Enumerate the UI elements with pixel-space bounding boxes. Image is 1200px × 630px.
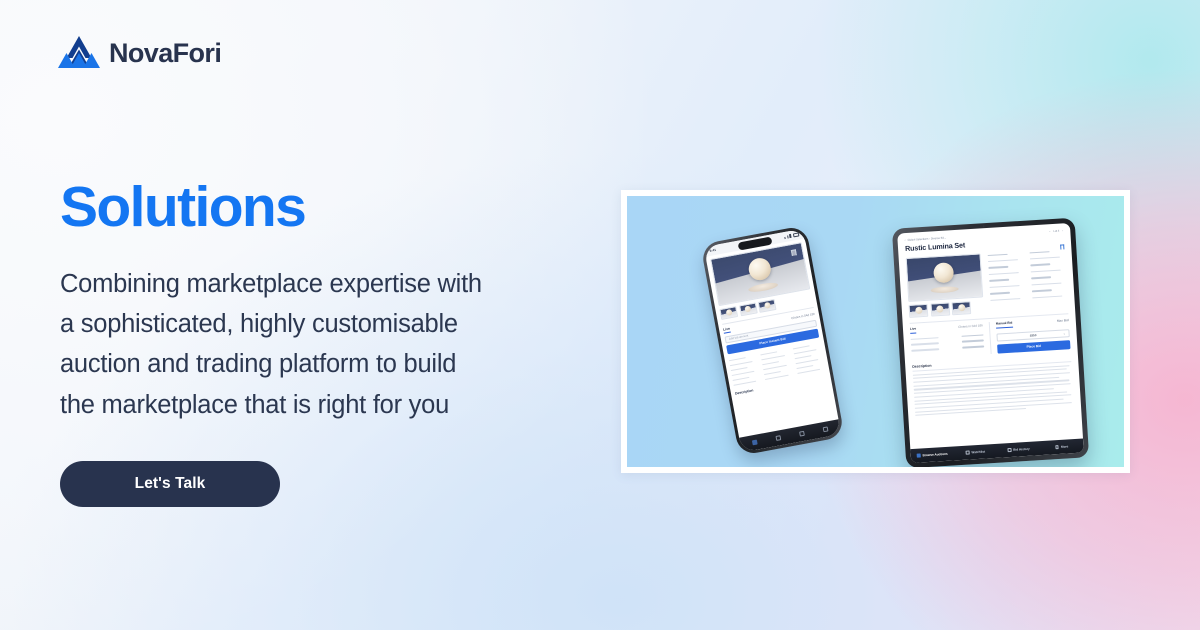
subcopy-line-1: Combining marketplace expertise with [60, 264, 620, 304]
bid-stat-row [911, 334, 984, 340]
description-body [913, 365, 1074, 416]
bid-mode-tabs: Manual Bid Max Bid [996, 317, 1069, 328]
battery-icon [793, 233, 799, 237]
spec-column [987, 252, 1026, 312]
chevron-left-icon: ‹ [904, 238, 905, 242]
subcopy-line-2: a sophisticated, highly customisable [60, 304, 620, 344]
more-icon[interactable] [822, 426, 828, 432]
spec-column [1029, 250, 1068, 310]
browse-auctions-icon [917, 454, 921, 458]
bid-history-icon [1008, 448, 1012, 452]
bookmark-icon[interactable] [1060, 244, 1064, 249]
thumbnail-item[interactable] [739, 303, 758, 317]
device-mockup-canvas: 9:41 [627, 196, 1124, 467]
tab-manual-bid[interactable]: Manual Bid [996, 321, 1013, 329]
brand-wordmark: NovaFori [109, 40, 221, 67]
bid-stat-row [911, 340, 984, 346]
nav-label: Watchlist [971, 450, 985, 455]
signal-bars-icon [784, 234, 792, 239]
tablet-description-section: Description [905, 348, 1081, 416]
closes-in-label: Closes in 04d 18h [958, 323, 983, 331]
bid-amount-input[interactable]: £850 ⌄ [996, 329, 1069, 341]
bid-amount-value: £850 [1030, 333, 1037, 337]
bookmark-icon[interactable] [791, 249, 797, 256]
lot-hero-image[interactable] [906, 253, 983, 301]
live-tab[interactable]: Live [910, 327, 917, 334]
nav-watchlist[interactable]: Watchlist [954, 449, 997, 456]
live-summary-panel: Live Closes in 04d 18h [910, 322, 992, 358]
lets-talk-button[interactable]: Let's Talk [60, 461, 280, 507]
closes-in-label: Closes in 04d 18h [791, 311, 815, 319]
subcopy-line-3: auction and trading platform to build [60, 344, 620, 384]
spec-column [729, 355, 762, 386]
tab-max-bid[interactable]: Max Bid [1057, 318, 1069, 325]
chevron-left-icon[interactable]: ‹ [1049, 230, 1050, 233]
bookmark-icon [966, 451, 970, 455]
tablet-gallery [906, 253, 984, 317]
bid-history-icon[interactable] [799, 431, 805, 437]
thumbnail-item[interactable] [758, 299, 777, 313]
spec-column [792, 343, 825, 374]
tablet-mockup: ‹ Global Selections › Diverse Ed... ‹ Lo… [892, 218, 1089, 467]
lot-photo-base [747, 281, 778, 293]
thumbnail-item[interactable] [951, 301, 971, 315]
page-title: Solutions [60, 178, 620, 238]
phone-content: Live Closes in 04d 18h Add bid amount Pl… [706, 238, 839, 437]
tablet-bottom-nav: Browse Auctions Watchlist Bid History [910, 439, 1084, 464]
phone-status-time: 9:41 [709, 248, 716, 253]
nav-bid-history[interactable]: Bid History [997, 446, 1040, 453]
phone-screen: 9:41 [704, 229, 841, 453]
nav-label: More [1061, 444, 1069, 448]
lot-pager[interactable]: ‹ Lot 4 › [1049, 229, 1063, 233]
chevron-down-icon[interactable]: ⌄ [1063, 331, 1066, 335]
live-tab[interactable]: Live [723, 326, 731, 333]
hero-subcopy: Combining marketplace expertise with a s… [60, 264, 620, 425]
live-tab-row: Live Closes in 04d 18h [910, 323, 983, 334]
thumbnail-item[interactable] [719, 306, 738, 320]
lot-photo-pearl [747, 257, 773, 283]
tablet-chassis: ‹ Global Selections › Diverse Ed... ‹ Lo… [892, 218, 1089, 467]
tablet-main-row [899, 245, 1075, 317]
brand-logo[interactable]: NovaFori [58, 36, 221, 70]
spec-column [761, 349, 794, 380]
more-icon [1055, 445, 1059, 449]
phone-chassis: 9:41 [700, 225, 844, 456]
nav-label: Browse Auctions [922, 452, 947, 458]
lot-photo-pearl [933, 262, 954, 283]
phone-mockup: 9:41 [700, 225, 844, 456]
bid-stat-row [911, 346, 984, 352]
tablet-screen: ‹ Global Selections › Diverse Ed... ‹ Lo… [897, 223, 1084, 463]
novafori-mountain-logo-icon [58, 36, 100, 70]
bid-entry-panel: Manual Bid Max Bid £850 ⌄ Place Bid [996, 317, 1071, 353]
thumbnail-item[interactable] [908, 303, 928, 317]
tablet-camera-icon [982, 225, 985, 228]
hero-copy-block: Solutions Combining marketplace expertis… [60, 178, 620, 507]
lot-photo-base [931, 286, 959, 294]
subcopy-line-4: the marketplace that is right for you [60, 385, 620, 425]
marketing-banner: NovaFori Solutions Combining marketplace… [0, 0, 1200, 630]
nav-more[interactable]: More [1040, 444, 1083, 451]
device-mockup-card: 9:41 [621, 190, 1130, 473]
tablet-thumbnail-strip [908, 300, 983, 318]
browse-auctions-icon[interactable] [752, 439, 758, 445]
nav-label: Bid History [1013, 447, 1030, 452]
chevron-right-icon[interactable]: › [1062, 229, 1063, 232]
thumbnail-item[interactable] [930, 302, 950, 316]
nav-browse-auctions[interactable]: Browse Auctions [911, 451, 954, 458]
tablet-spec-table [987, 248, 1068, 313]
lot-label: Lot 4 [1053, 229, 1059, 232]
watchlist-icon[interactable] [776, 435, 782, 441]
